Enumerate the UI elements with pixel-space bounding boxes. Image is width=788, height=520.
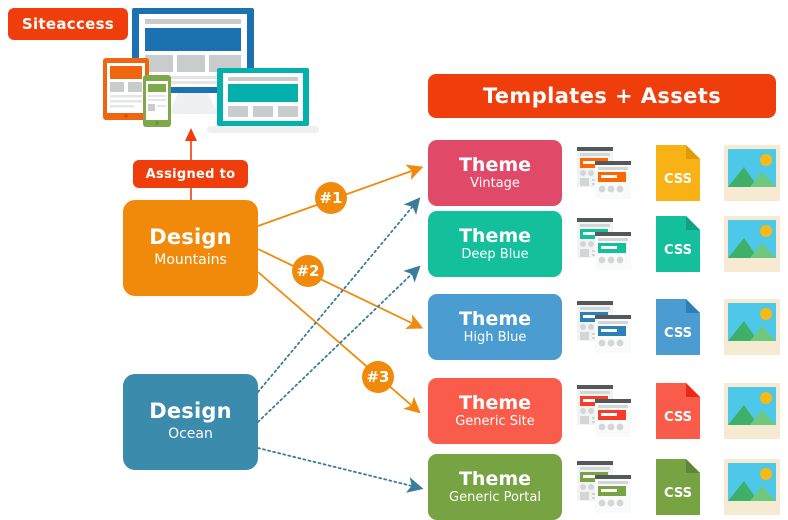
theme-card-deep-blue[interactable]: Theme Deep Blue <box>428 211 562 277</box>
theme-title: Theme <box>459 226 531 247</box>
connector-badge-3: #3 <box>362 361 394 393</box>
css-label: CSS <box>664 326 692 341</box>
arrow-ocean-to-generic-portal <box>258 448 420 488</box>
image-asset-icon <box>724 216 780 272</box>
theme-title: Theme <box>459 469 531 490</box>
css-file-icon: CSS <box>656 145 700 201</box>
theme-card-generic-portal[interactable]: Theme Generic Portal <box>428 454 562 520</box>
css-file-icon: CSS <box>656 216 700 272</box>
arrow-mountains-to-generic-site <box>258 272 418 411</box>
template-icon <box>576 300 632 354</box>
theme-row: Theme Deep Blue CSS <box>428 211 780 277</box>
image-asset-icon <box>724 145 780 201</box>
css-label: CSS <box>664 172 692 187</box>
image-asset-icon <box>724 299 780 355</box>
diagram-canvas: Siteaccess Assigned to Design Mountains … <box>0 0 788 520</box>
template-icon <box>576 146 632 200</box>
image-asset-icon <box>724 383 780 439</box>
theme-row: Theme Generic Portal CSS <box>428 454 780 520</box>
theme-title: Theme <box>459 393 531 414</box>
css-file-icon: CSS <box>656 299 700 355</box>
arrow-ocean-to-deep-blue <box>258 268 418 422</box>
theme-subtitle: Vintage <box>470 176 520 191</box>
template-icon <box>576 460 632 514</box>
connector-badge-1: #1 <box>315 182 347 214</box>
theme-title: Theme <box>459 309 531 330</box>
css-label: CSS <box>664 486 692 501</box>
arrow-ocean-to-vintage <box>258 200 418 392</box>
theme-subtitle: Generic Site <box>455 414 535 429</box>
css-label: CSS <box>664 243 692 258</box>
arrow-mountains-to-high-blue <box>258 249 420 327</box>
connector-badge-2: #2 <box>292 255 324 287</box>
image-asset-icon <box>724 459 780 515</box>
css-file-icon: CSS <box>656 383 700 439</box>
theme-row: Theme High Blue CSS <box>428 294 780 360</box>
theme-title: Theme <box>459 155 531 176</box>
theme-subtitle: Generic Portal <box>449 490 541 505</box>
css-label: CSS <box>664 410 692 425</box>
theme-row: Theme Vintage CSS <box>428 140 780 206</box>
theme-subtitle: Deep Blue <box>461 247 528 262</box>
theme-card-high-blue[interactable]: Theme High Blue <box>428 294 562 360</box>
template-icon <box>576 384 632 438</box>
theme-row: Theme Generic Site CSS <box>428 378 780 444</box>
templates-assets-banner: Templates + Assets <box>428 74 776 118</box>
theme-card-generic-site[interactable]: Theme Generic Site <box>428 378 562 444</box>
theme-card-vintage[interactable]: Theme Vintage <box>428 140 562 206</box>
theme-subtitle: High Blue <box>464 330 527 345</box>
css-file-icon: CSS <box>656 459 700 515</box>
template-icon <box>576 217 632 271</box>
